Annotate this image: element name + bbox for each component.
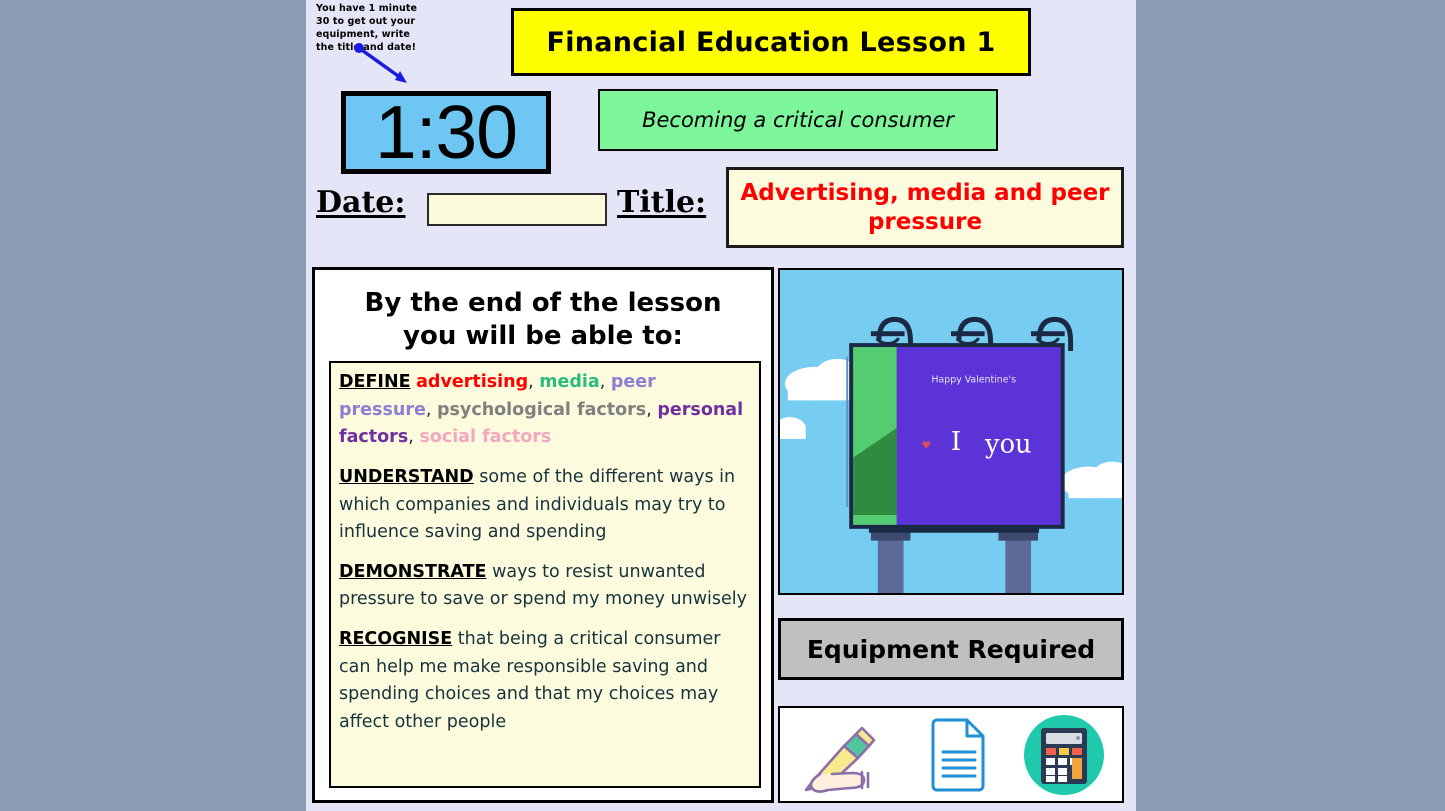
countdown-timer[interactable]: 1:30 <box>341 91 551 174</box>
lesson-title-text: Financial Education Lesson 1 <box>546 27 995 58</box>
objective-define: DEFINE advertising, media, peer pressure… <box>339 369 751 452</box>
heart-icon: ♥ <box>921 439 931 452</box>
lesson-title-banner: Financial Education Lesson 1 <box>511 8 1031 76</box>
equipment-required-header: Equipment Required <box>778 618 1124 680</box>
billboard-svg: Happy Valentine's I ♥ you <box>780 270 1122 593</box>
billboard-illustration: Happy Valentine's I ♥ you <box>778 268 1124 595</box>
calculator-icon <box>1022 713 1106 797</box>
billboard-post-right <box>1005 532 1031 593</box>
blue-arrow-icon <box>351 40 415 90</box>
billboard-line-left: I <box>951 427 961 457</box>
document-icon <box>919 714 991 796</box>
objective-keyword: RECOGNISE <box>339 629 452 649</box>
billboard-headline-text: Happy Valentine's <box>932 375 1017 386</box>
date-label: Date: <box>316 185 405 220</box>
objective-demonstrate: DEMONSTRATE ways to resist unwanted pres… <box>339 559 751 614</box>
slide-canvas: You have 1 minute 30 to get out your equ… <box>306 0 1136 811</box>
objective-understand: UNDERSTAND some of the different ways in… <box>339 464 751 547</box>
lesson-subtitle-text: Becoming a critical consumer <box>642 108 954 132</box>
objective-term: advertising <box>416 372 528 392</box>
hand-writing-pencil-icon <box>796 716 888 794</box>
objectives-heading-line1: By the end of the lesson <box>323 287 763 320</box>
objective-recognise: RECOGNISE that being a critical consumer… <box>339 626 751 737</box>
lamp-heads <box>871 331 1065 336</box>
objectives-heading-line2: you will be able to: <box>323 320 763 353</box>
topic-text: Advertising, media and peer pressure <box>739 179 1111 235</box>
title-label: Title: <box>617 185 706 220</box>
lesson-subtitle-banner: Becoming a critical consumer <box>598 89 998 151</box>
screenshot-root: You have 1 minute 30 to get out your equ… <box>0 0 1445 811</box>
objective-keyword: UNDERSTAND <box>339 467 474 487</box>
objective-term: psychological factors <box>437 400 646 420</box>
timer-value: 1:30 <box>375 97 517 168</box>
date-input-box[interactable] <box>427 193 607 226</box>
objective-keyword: DEMONSTRATE <box>339 562 487 582</box>
objective-term: media <box>539 372 599 392</box>
billboard-post-left <box>878 532 904 593</box>
topic-banner: Advertising, media and peer pressure <box>726 167 1124 248</box>
objectives-list: DEFINE advertising, media, peer pressure… <box>329 361 761 788</box>
equipment-required-text: Equipment Required <box>807 635 1095 664</box>
equipment-icons-row <box>778 706 1124 803</box>
objectives-panel: By the end of the lesson you will be abl… <box>312 267 774 803</box>
objective-term: social factors <box>419 427 551 447</box>
objectives-heading: By the end of the lesson you will be abl… <box>323 287 763 354</box>
billboard-line-right: you <box>984 430 1032 460</box>
objective-keyword: DEFINE <box>339 372 411 392</box>
